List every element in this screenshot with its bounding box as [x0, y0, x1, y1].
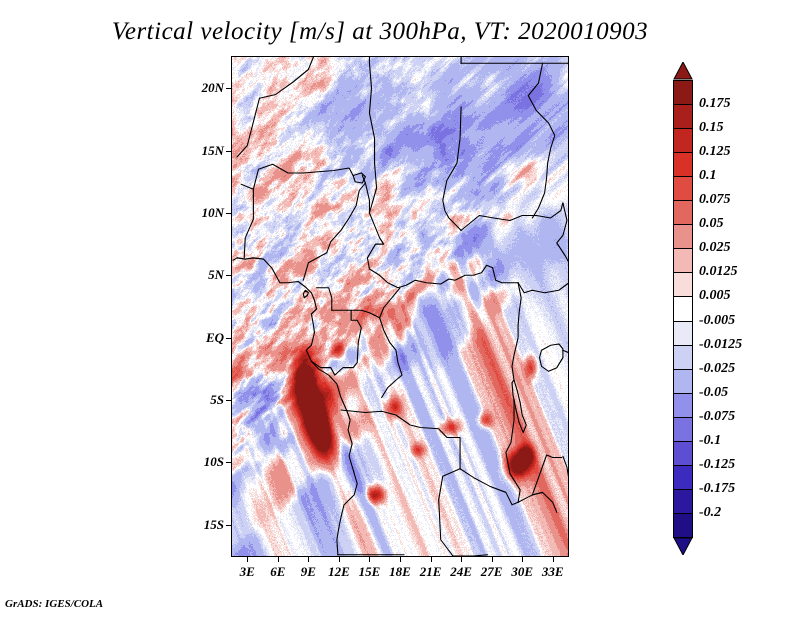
lon-tick-label-6E: 6E	[270, 564, 285, 580]
colorbar-band	[673, 513, 693, 538]
lat-tick-mark	[226, 275, 232, 276]
lon-tick-mark	[247, 556, 248, 562]
lon-tick-mark	[431, 556, 432, 562]
lat-tick-label-15N: 15N	[190, 143, 224, 159]
lon-tick-mark	[339, 556, 340, 562]
colorbar-band	[673, 321, 693, 346]
colorbar-label-12: -0.05	[699, 385, 728, 401]
lon-tick-label-18E: 18E	[389, 564, 411, 580]
colorbar-label-13: -0.075	[699, 409, 735, 425]
colorbar-band	[673, 465, 693, 490]
map-plot-area	[232, 57, 568, 556]
colorbar-label-14: -0.1	[699, 433, 721, 449]
lon-tick-label-30E: 30E	[511, 564, 533, 580]
lat-tick-label-15S: 15S	[190, 517, 224, 533]
lon-tick-mark	[278, 556, 279, 562]
credit-text: GrADS: IGES/COLA	[5, 598, 103, 610]
lon-tick-label-15E: 15E	[359, 564, 381, 580]
lon-tick-label-33E: 33E	[542, 564, 564, 580]
lat-tick-label-5N: 5N	[190, 267, 224, 283]
grads-plot: Vertical velocity [m/s] at 300hPa, VT: 2…	[0, 0, 800, 618]
colorbar-label-1: 0.15	[699, 120, 724, 136]
lat-tick-mark	[226, 88, 232, 89]
lat-tick-label-20N: 20N	[190, 80, 224, 96]
colorbar-band	[673, 104, 693, 129]
colorbar-band	[673, 152, 693, 177]
colorbar-arrow-bottom	[673, 537, 693, 555]
colorbar-arrow-top	[673, 62, 693, 80]
colorbar-label-4: 0.075	[699, 192, 731, 208]
lon-tick-label-24E: 24E	[450, 564, 472, 580]
colorbar-band	[673, 417, 693, 442]
colorbar-band	[673, 345, 693, 370]
lon-tick-label-27E: 27E	[481, 564, 503, 580]
colorbar-band	[673, 489, 693, 514]
lon-tick-mark	[522, 556, 523, 562]
colorbar-label-15: -0.125	[699, 457, 735, 473]
colorbar-label-10: -0.0125	[699, 337, 742, 353]
lat-tick-label-10N: 10N	[190, 205, 224, 221]
colorbar-label-7: 0.0125	[699, 264, 738, 280]
colorbar-band	[673, 441, 693, 466]
colorbar-band	[673, 224, 693, 249]
lon-tick-label-21E: 21E	[420, 564, 442, 580]
lon-tick-mark	[461, 556, 462, 562]
lat-tick-mark	[226, 525, 232, 526]
lon-tick-mark	[553, 556, 554, 562]
lat-tick-mark	[226, 338, 232, 339]
colorbar-band	[673, 369, 693, 394]
colorbar-band	[673, 80, 693, 105]
colorbar-band	[673, 200, 693, 225]
colorbar-label-3: 0.1	[699, 168, 717, 184]
lat-tick-mark	[226, 400, 232, 401]
lat-tick-mark	[226, 213, 232, 214]
colorbar-label-11: -0.025	[699, 361, 735, 377]
colorbar-label-6: 0.025	[699, 240, 731, 256]
colorbar-band	[673, 296, 693, 321]
page-title: Vertical velocity [m/s] at 300hPa, VT: 2…	[0, 18, 760, 46]
vertical-velocity-field	[232, 57, 568, 556]
lat-tick-label-EQ: EQ	[190, 330, 224, 346]
lon-tick-mark	[369, 556, 370, 562]
colorbar-band	[673, 176, 693, 201]
lat-tick-label-10S: 10S	[190, 454, 224, 470]
lon-tick-mark	[492, 556, 493, 562]
colorbar-band	[673, 272, 693, 297]
lat-tick-mark	[226, 151, 232, 152]
colorbar-label-8: 0.005	[699, 288, 731, 304]
lon-tick-label-12E: 12E	[328, 564, 350, 580]
colorbar-label-2: 0.125	[699, 144, 731, 160]
lat-tick-label-5S: 5S	[190, 392, 224, 408]
colorbar-band	[673, 393, 693, 418]
colorbar-band	[673, 128, 693, 153]
lon-tick-label-3E: 3E	[240, 564, 255, 580]
colorbar-label-16: -0.175	[699, 481, 735, 497]
colorbar-label-17: -0.2	[699, 505, 721, 521]
colorbar-label-0: 0.175	[699, 96, 731, 112]
colorbar-label-5: 0.05	[699, 216, 724, 232]
lon-tick-mark	[308, 556, 309, 562]
lon-tick-mark	[400, 556, 401, 562]
colorbar-label-9: -0.005	[699, 313, 735, 329]
lon-tick-label-9E: 9E	[301, 564, 316, 580]
lat-tick-mark	[226, 462, 232, 463]
colorbar-band	[673, 248, 693, 273]
